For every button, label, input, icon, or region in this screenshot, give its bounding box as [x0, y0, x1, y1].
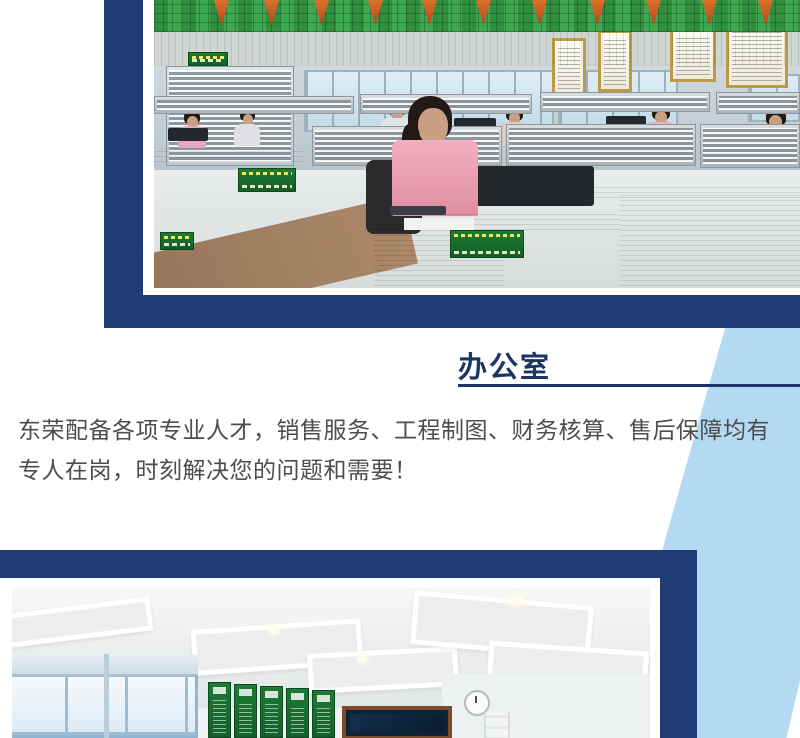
ceiling-downlight: [358, 656, 367, 662]
ceiling-downlight: [270, 628, 279, 634]
ceiling-coffer-center-inner: [307, 646, 459, 694]
title-underline-rule: [458, 384, 800, 387]
information-board-1: [208, 682, 231, 738]
right-desk-top: [620, 192, 800, 286]
ceiling-grid-lines: [154, 0, 800, 32]
meeting-room-scene: [12, 588, 650, 738]
information-board-5: [312, 690, 335, 738]
information-board-2: [234, 684, 257, 738]
ceiling-downlight: [508, 596, 524, 605]
workstation-partition-mid: [700, 124, 800, 168]
workstation-partition-far: [540, 92, 710, 112]
orange-wall-band: [154, 32, 800, 66]
information-board-3: [260, 686, 283, 738]
desk-surface-mid: [154, 150, 304, 162]
department-sign-ecommerce: [238, 168, 296, 192]
paper-documents: [404, 218, 474, 230]
monitor: [168, 128, 208, 141]
office-hall-scene: [154, 0, 800, 288]
department-sign-foreign-trade-2: [450, 230, 524, 258]
right-desk-edge: [594, 186, 800, 198]
workstation-partition-far: [716, 92, 800, 114]
foreground-keyboard: [390, 206, 446, 215]
information-board-4: [286, 688, 309, 738]
caption-block: 办公室 东荣配备各项专业人才，销售服务、工程制图、财务核算、售后保障均有专人在岗…: [0, 328, 800, 548]
page-title: 办公室: [458, 344, 551, 386]
foreground-person-head: [418, 108, 448, 144]
person-torso: [234, 124, 260, 146]
screen-display-area: [350, 714, 444, 732]
monitor-large: [474, 166, 594, 206]
office-section-page: 办公室 东荣配备各项专业人才，销售服务、工程制图、财务核算、售后保障均有专人在岗…: [0, 0, 800, 738]
foreground-person-torso: [392, 140, 478, 216]
storage-shelf: [484, 712, 510, 738]
department-sign-small: [160, 232, 194, 250]
window-mullion: [104, 654, 109, 738]
presentation-screen: [342, 706, 452, 738]
meeting-room-photo: [12, 588, 650, 738]
workstation-partition-mid: [506, 124, 696, 166]
section-body-text: 东荣配备各项专业人才，销售服务、工程制图、财务核算、售后保障均有专人在岗，时刻解…: [18, 410, 793, 490]
department-sign-foreign-trade-1: [188, 52, 228, 66]
workstation-partition-far: [154, 96, 354, 114]
office-hall-photo: [154, 0, 800, 288]
